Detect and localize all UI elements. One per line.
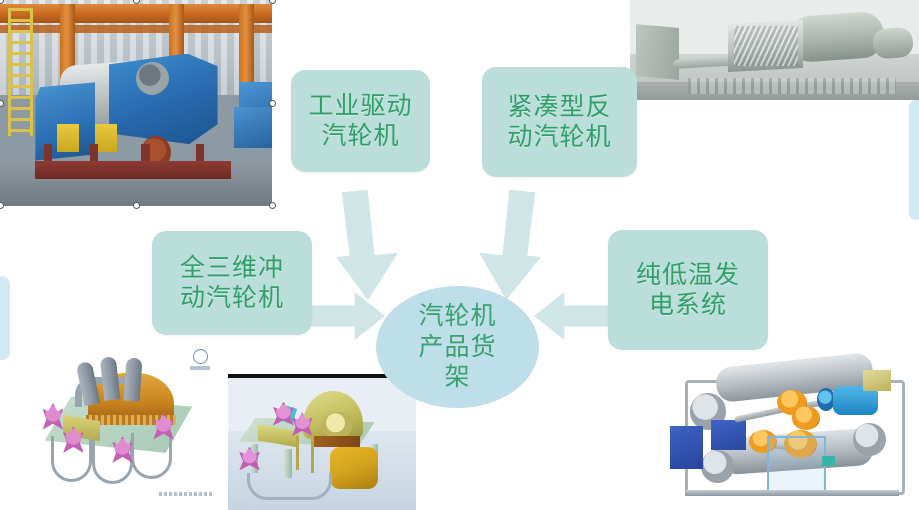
red-base-frame xyxy=(35,161,231,180)
node-industrial-drive-turbine[interactable]: 工业驱动 汽轮机 xyxy=(291,70,430,172)
indicator-fitting xyxy=(822,456,835,466)
node-center-turbine-product-shelf[interactable]: 汽轮机 产品货 架 xyxy=(376,286,539,408)
inner-support-frame xyxy=(767,436,827,493)
arrow-low-temp-to-center xyxy=(534,292,614,340)
node-label: 紧凑型反 动汽轮机 xyxy=(507,92,611,153)
steam-pipe xyxy=(100,356,121,401)
arrow-three-d-to-center xyxy=(305,292,385,340)
steam-inlet-flange xyxy=(136,62,169,95)
casing-joint xyxy=(314,436,359,447)
tie-rod xyxy=(296,436,299,470)
exciter-cylinder xyxy=(872,27,914,60)
node-label: 全三维冲 动汽轮机 xyxy=(180,253,284,314)
node-low-temp-power-system[interactable]: 纯低温发 电系统 xyxy=(608,230,768,350)
control-valve xyxy=(792,406,820,429)
selection-handle-bottom-right[interactable] xyxy=(269,202,276,209)
selection-handle-middle-right[interactable] xyxy=(269,100,276,107)
control-cabinet xyxy=(636,24,679,80)
drain-loop xyxy=(247,473,332,500)
overhead-crane-beam xyxy=(0,4,272,23)
selection-handle-bottom-left[interactable] xyxy=(0,202,4,209)
decorative-ribbon-right xyxy=(909,100,919,220)
control-panel xyxy=(670,426,703,469)
compact-reaction-turbine-render[interactable] xyxy=(630,0,919,100)
base-rail xyxy=(685,490,898,496)
terminal-box xyxy=(863,370,891,392)
center-label: 汽轮机 产品货 架 xyxy=(418,301,496,393)
yellow-support-block xyxy=(57,124,79,153)
turbine-rotor-assembly-render[interactable] xyxy=(228,374,416,510)
node-label: 纯低温发 电系统 xyxy=(636,260,740,321)
piping-detail xyxy=(734,26,798,66)
node-label: 工业驱动 汽轮机 xyxy=(308,91,412,152)
crane-rail xyxy=(0,25,272,33)
company-logo xyxy=(186,347,215,374)
skid-base xyxy=(688,78,896,94)
vessel-end-cap xyxy=(701,450,734,483)
render-caption xyxy=(159,492,212,496)
auxiliary-equipment xyxy=(234,107,272,148)
logo-wordmark xyxy=(190,366,210,370)
three-d-impulse-turbine-render[interactable] xyxy=(18,340,223,506)
tie-rod xyxy=(311,439,314,473)
pump-module xyxy=(711,420,747,450)
low-temp-power-system-render[interactable] xyxy=(665,340,919,506)
industrial-drive-turbine-photo[interactable] xyxy=(0,0,272,206)
decorative-ribbon-left xyxy=(0,276,10,360)
wall-ladder xyxy=(8,8,33,136)
yellow-support-block xyxy=(95,124,117,153)
arrow-compact-to-center xyxy=(474,187,547,303)
steam-pipe xyxy=(123,358,142,402)
logo-ring-icon xyxy=(193,349,208,364)
slide-canvas: 工业驱动 汽轮机 紧凑型反 动汽轮机 全三维冲 动汽轮机 纯低温发 电系统 汽轮… xyxy=(0,0,919,506)
selection-handle-bottom-center[interactable] xyxy=(133,202,140,209)
vessel-end-cap xyxy=(853,423,886,456)
node-three-d-impulse-turbine[interactable]: 全三维冲 动汽轮机 xyxy=(152,231,312,335)
support-spring xyxy=(43,403,64,430)
selection-handle-top-right[interactable] xyxy=(269,0,276,4)
rotor-disc xyxy=(322,412,352,438)
drain-loop xyxy=(131,433,172,479)
generator-drum xyxy=(330,447,379,489)
node-compact-reaction-turbine[interactable]: 紧凑型反 动汽轮机 xyxy=(482,67,637,177)
arrow-industrial-to-center xyxy=(329,187,402,303)
